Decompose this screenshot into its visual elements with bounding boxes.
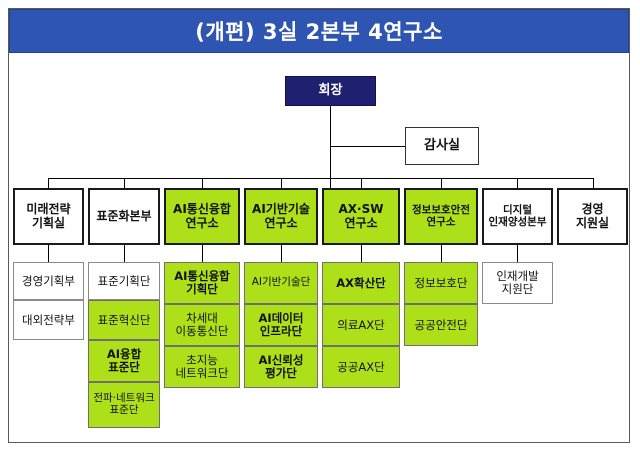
connector-division-bus [48, 178, 593, 179]
connector-stem-2 [124, 245, 125, 262]
connector-ceo-to-audit [330, 146, 405, 147]
connector-stem-7 [517, 245, 518, 262]
team-info-security-2-label: 공공안전단 [405, 319, 477, 332]
division-digital-talent[interactable]: 디지털 인재양성본부 [482, 188, 553, 245]
team-ai-comm-2[interactable]: 차세대 이동통신단 [164, 304, 240, 346]
node-ceo[interactable]: 회장 [285, 76, 376, 106]
connector-ceo-down [330, 106, 331, 188]
team-ai-comm-3-label: 초지능 네트워크단 [165, 354, 239, 380]
division-future-strategy[interactable]: 미래전략 기획실 [13, 188, 84, 245]
team-ax-sw-2-label: 의료AX단 [323, 319, 399, 332]
connector-drop-5 [361, 178, 362, 188]
connector-drop-1 [48, 178, 49, 188]
connector-stem-3 [202, 245, 203, 262]
team-standardization-3[interactable]: AI융합 표준단 [88, 340, 160, 382]
team-ai-comm-2-label: 차세대 이동통신단 [165, 312, 239, 338]
team-ax-sw-2[interactable]: 의료AX단 [322, 304, 400, 346]
connector-drop-2 [124, 178, 125, 188]
division-ax-sw[interactable]: AX·SW 연구소 [322, 188, 400, 245]
division-info-security-label: 정보보호안전 연구소 [406, 205, 476, 229]
division-ai-comm-convergence-label: AI통신융합 연구소 [166, 203, 238, 230]
division-future-strategy-label: 미래전략 기획실 [15, 203, 82, 230]
team-standardization-3-label: AI융합 표준단 [89, 348, 159, 374]
team-ax-sw-1[interactable]: AX확산단 [322, 262, 400, 304]
team-ai-core-3-label: AI신뢰성 평가단 [245, 354, 317, 380]
org-chart-page: (개편) 3실 2본부 4연구소 회장 감사실 미래전략 기획실 표준화본부 A… [0, 0, 640, 460]
division-ax-sw-label: AX·SW 연구소 [324, 203, 398, 230]
team-ax-sw-3-label: 공공AX단 [323, 361, 399, 374]
team-future-strategy-1-label: 경영기획부 [14, 275, 83, 288]
team-ax-sw-1-label: AX확산단 [323, 277, 399, 290]
team-standardization-1-label: 표준기획단 [89, 275, 159, 288]
team-info-security-1[interactable]: 정보보호단 [404, 262, 478, 304]
connector-stem-1 [48, 245, 49, 262]
connector-stem-6 [441, 245, 442, 262]
team-future-strategy-2[interactable]: 대외전략부 [13, 300, 84, 340]
connector-drop-3 [202, 178, 203, 188]
division-management-support-label: 경영 지원실 [559, 203, 626, 230]
team-standardization-2-label: 표준혁신단 [89, 314, 159, 327]
team-future-strategy-2-label: 대외전략부 [14, 314, 83, 327]
division-standardization-label: 표준화본부 [90, 210, 158, 223]
page-title: (개편) 3실 2본부 4연구소 [9, 9, 629, 53]
node-audit-office[interactable]: 감사실 [405, 127, 479, 165]
connector-drop-8 [593, 178, 594, 188]
team-ax-sw-3[interactable]: 공공AX단 [322, 346, 400, 388]
division-ai-comm-convergence[interactable]: AI통신융합 연구소 [164, 188, 240, 245]
team-future-strategy-1[interactable]: 경영기획부 [13, 262, 84, 300]
division-ai-core-tech-label: AI기반기술 연구소 [246, 203, 316, 230]
node-ceo-label: 회장 [286, 84, 375, 99]
team-info-security-1-label: 정보보호단 [405, 277, 477, 290]
team-digital-talent-1[interactable]: 인재개발 지원단 [482, 262, 553, 304]
division-management-support[interactable]: 경영 지원실 [557, 188, 628, 245]
node-audit-office-label: 감사실 [406, 139, 478, 154]
team-ai-comm-3[interactable]: 초지능 네트워크단 [164, 346, 240, 388]
connector-drop-7 [517, 178, 518, 188]
team-standardization-2[interactable]: 표준혁신단 [88, 300, 160, 340]
team-ai-comm-1-label: AI통신융합 기획단 [165, 270, 239, 296]
connector-stem-4 [281, 245, 282, 262]
connector-drop-6 [441, 178, 442, 188]
team-standardization-4[interactable]: 전파·네트워크 표준단 [88, 382, 160, 428]
connector-stem-5 [361, 245, 362, 262]
division-standardization[interactable]: 표준화본부 [88, 188, 160, 245]
team-ai-core-3[interactable]: AI신뢰성 평가단 [244, 346, 318, 388]
team-standardization-4-label: 전파·네트워크 표준단 [89, 393, 159, 417]
team-ai-core-1-label: AI기반기술단 [245, 277, 317, 289]
team-ai-core-1[interactable]: AI기반기술단 [244, 262, 318, 304]
connector-drop-4 [281, 178, 282, 188]
team-digital-talent-1-label: 인재개발 지원단 [483, 270, 552, 296]
team-ai-comm-1[interactable]: AI통신융합 기획단 [164, 262, 240, 304]
team-standardization-1[interactable]: 표준기획단 [88, 262, 160, 300]
team-info-security-2[interactable]: 공공안전단 [404, 304, 478, 346]
team-ai-core-2-label: AI데이터 인프라단 [245, 312, 317, 338]
division-info-security[interactable]: 정보보호안전 연구소 [404, 188, 478, 245]
team-ai-core-2[interactable]: AI데이터 인프라단 [244, 304, 318, 346]
division-digital-talent-label: 디지털 인재양성본부 [484, 205, 551, 229]
division-ai-core-tech[interactable]: AI기반기술 연구소 [244, 188, 318, 245]
